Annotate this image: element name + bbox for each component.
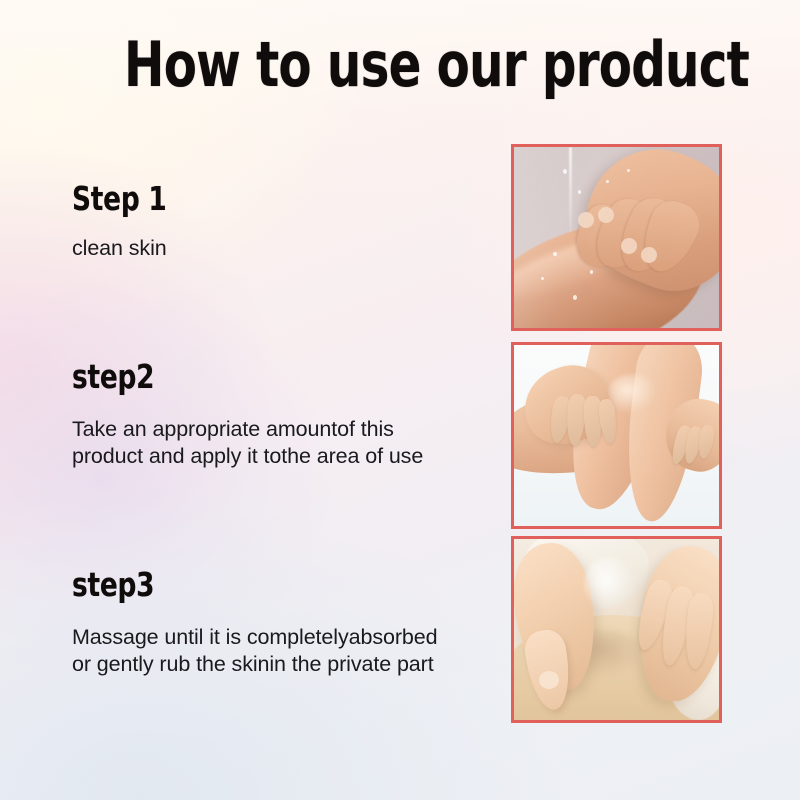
step-3-photo-scene — [514, 539, 719, 720]
steps-list: Step 1 clean skin step2 Take an appropri… — [0, 0, 500, 800]
step-item-2: step2 Take an appropriate amountof this … — [72, 360, 502, 470]
step-2-description: Take an appropriate amountof this produc… — [72, 416, 502, 470]
step-2-heading: step2 — [72, 360, 416, 394]
step-1-description: clean skin — [72, 235, 502, 262]
step-item-1: Step 1 clean skin — [72, 182, 502, 262]
water-sheen-overlay — [514, 147, 719, 328]
step-1-photo — [511, 144, 722, 331]
step-1-photo-scene — [514, 147, 719, 328]
knee-highlight — [608, 374, 657, 414]
step-2-photo-scene — [514, 345, 719, 526]
step-item-3: step3 Massage until it is completelyabso… — [72, 568, 502, 678]
step-3-description: Massage until it is completelyabsorbed o… — [72, 624, 502, 678]
step-3-heading: step3 — [72, 568, 416, 602]
step-3-photo — [511, 536, 722, 723]
step-2-photo — [511, 342, 722, 529]
step-1-heading: Step 1 — [72, 182, 416, 216]
product-instructions-poster: How to use our product Step 1 clean skin… — [0, 0, 800, 800]
